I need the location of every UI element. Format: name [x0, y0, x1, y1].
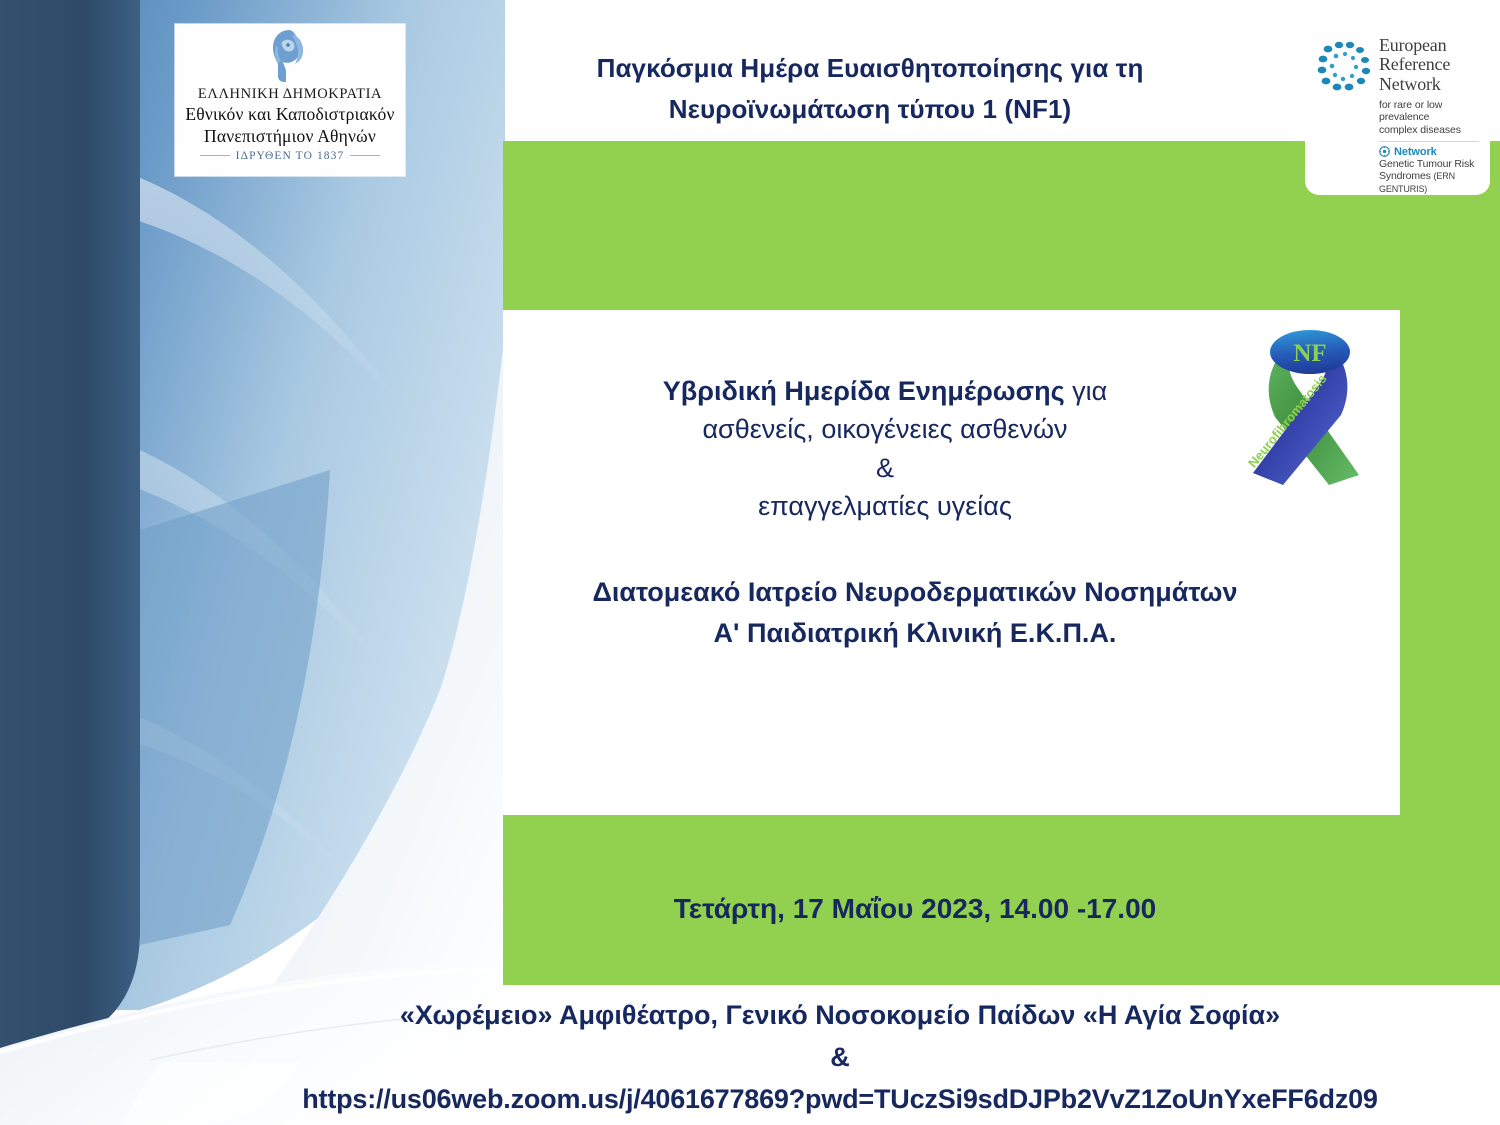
nkua-founded-row: ΙΔΡΥΘΕΝ ΤΟ 1837 — [200, 150, 381, 162]
ern-tagline: for rare or low prevalence complex disea… — [1379, 99, 1481, 136]
nkua-university-logo: ΕΛΛΗΝΙΚΗ ΔΗΜΟΚΡΑΤΙΑ Εθνικόν και Καποδιστ… — [175, 24, 405, 176]
event-description: Υβριδική Ημερίδα Ενημέρωσης για ασθενείς… — [520, 372, 1250, 525]
ern-network-description: Genetic Tumour Risk Syndromes (ERN GENTU… — [1379, 158, 1481, 196]
ern-wordmark: European Reference Network — [1379, 36, 1450, 94]
ern-network-line2: Syndromes — [1379, 170, 1431, 182]
nkua-line3: Πανεπιστήμιον Αθηνών — [204, 125, 376, 147]
nkua-line2: Εθνικόν και Καποδιστριακόν — [185, 103, 394, 125]
ern-dot-circle-icon — [1315, 38, 1373, 96]
audience-ampersand: & — [520, 449, 1250, 487]
footer-ampersand: & — [180, 1037, 1500, 1079]
clinic-line-2: Α' Παιδιατρική Κλινική Ε.Κ.Π.Α. — [520, 613, 1310, 654]
ern-tagline-line1: for rare or low prevalence — [1379, 99, 1481, 124]
organizing-clinic: Διατομεακό Ιατρείο Νευροδερματικών Νοσημ… — [520, 572, 1310, 653]
ern-tagline-line2: complex diseases — [1379, 124, 1481, 136]
venue-and-link: «Χωρέμειο» Αμφιθέατρο, Γενικό Νοσοκομείο… — [180, 995, 1500, 1121]
title-line-2: Νευροϊνωμάτωση τύπου 1 (NF1) — [520, 89, 1220, 130]
gear-icon — [1379, 146, 1390, 157]
venue-text: «Χωρέμειο» Αμφιθέατρο, Γενικό Νοσοκομείο… — [180, 995, 1500, 1037]
ern-network-row: Network — [1379, 146, 1481, 158]
event-poster-slide: ΕΛΛΗΝΙΚΗ ΔΗΜΟΚΡΑΤΙΑ Εθνικόν και Καποδιστ… — [0, 0, 1500, 1125]
ern-divider — [1379, 141, 1479, 142]
title-line-1: Παγκόσμια Ημέρα Ευαισθητοποίησης για τη — [520, 48, 1220, 89]
ern-genturis-logo: European Reference Network for rare or l… — [1305, 27, 1490, 195]
audience-line-1: ασθενείς, οικογένειες ασθενών — [520, 410, 1250, 448]
ern-logo-top: European Reference Network — [1315, 36, 1481, 96]
ern-word-reference: Reference — [1379, 55, 1450, 74]
nkua-line1: ΕΛΛΗΝΙΚΗ ΔΗΜΟΚΡΑΤΙΑ — [198, 86, 382, 103]
svg-text:NF: NF — [1293, 340, 1326, 367]
page-title: Παγκόσμια Ημέρα Ευαισθητοποίησης για τη … — [520, 48, 1220, 130]
neurofibromatosis-ribbon-icon: NF Neurofibromatosis — [1237, 325, 1387, 495]
ern-network-line1: Genetic Tumour Risk — [1379, 158, 1481, 171]
athena-crest-icon — [264, 28, 316, 84]
event-lead-bold: Υβριδική Ημερίδα Ενημέρωσης — [663, 376, 1065, 406]
zoom-meeting-link[interactable]: https://us06web.zoom.us/j/4061677869?pwd… — [180, 1079, 1500, 1121]
rule-left — [200, 155, 230, 156]
event-lead-rest: για — [1065, 376, 1108, 406]
event-datetime: Τετάρτη, 17 Μαΐου 2023, 14.00 -17.00 — [520, 893, 1310, 925]
audience-line-2: επαγγελματίες υγείας — [520, 487, 1250, 525]
ern-word-european: European — [1379, 36, 1450, 55]
clinic-line-1: Διατομεακό Ιατρείο Νευροδερματικών Νοσημ… — [520, 572, 1310, 613]
nkua-founded-text: ΙΔΡΥΘΕΝ ΤΟ 1837 — [236, 150, 345, 162]
event-lead-line: Υβριδική Ημερίδα Ενημέρωσης για — [520, 372, 1250, 410]
ern-network-line2-wrap: Syndromes (ERN GENTURIS) — [1379, 170, 1481, 195]
ern-network-label: Network — [1394, 146, 1437, 158]
ern-word-network: Network — [1379, 75, 1450, 94]
rule-right — [350, 155, 380, 156]
